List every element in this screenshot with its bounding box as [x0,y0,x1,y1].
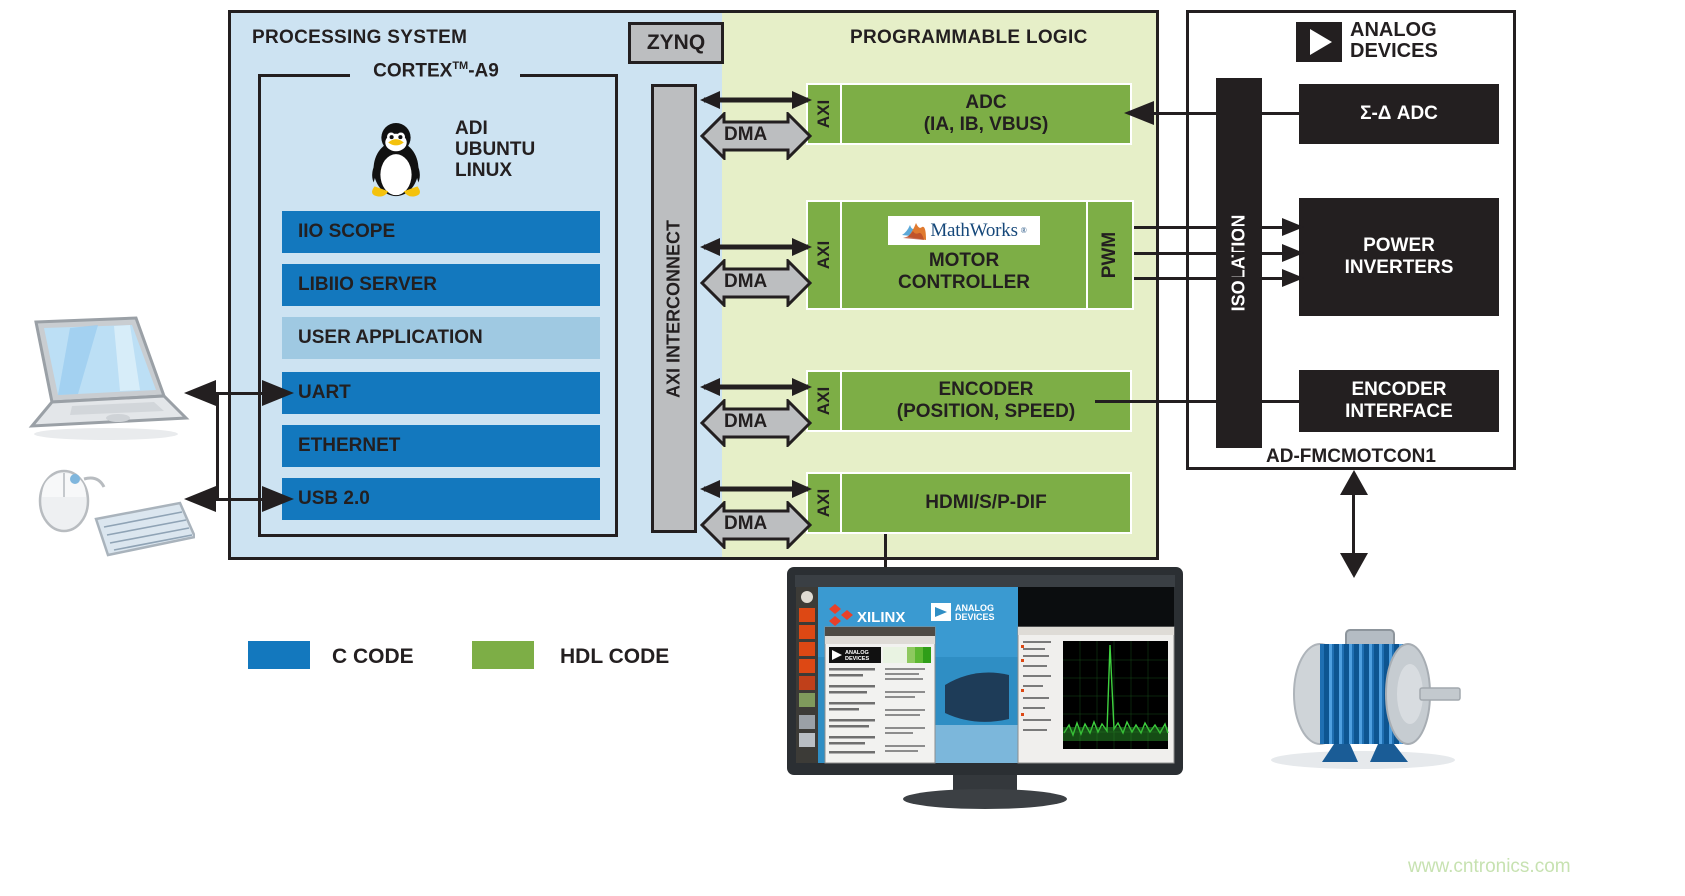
mouse-keyboard-group [30,455,195,560]
encoder-interface-line-2: INTERFACE [1345,401,1453,423]
hdl-subtitle: (IA, IB, VBUS) [924,114,1049,136]
dma-label-hdmi: DMA [724,513,767,535]
programmable-logic-title: PROGRAMMABLE LOGIC [850,27,1088,49]
sw-block-label: UART [298,382,351,404]
hdl-title: MOTOR [929,250,999,272]
adi-wordmark-line-1: ANALOG [1350,20,1438,41]
axi-tab-label: AXI [814,241,834,269]
cortex-label-text: CORTEX [373,60,452,81]
monitor-icon: XILINX ANALOG DEVICES ANALOG DEVICES [785,565,1185,815]
power-inverters-block[interactable]: POWER INVERTERS [1297,196,1501,318]
svg-text:DEVICES: DEVICES [955,612,995,622]
axi-tab-label: AXI [814,100,834,128]
os-line-3: LINUX [455,160,585,181]
board-name-label: AD-FMCMOTCON1 [1186,446,1516,468]
legend-label-c-code: C CODE [332,645,414,669]
sigma-delta-adc-label: Σ-Δ ADC [1360,103,1438,125]
wire-pwm-3 [1134,277,1264,280]
mathworks-reg-mark: ® [1021,220,1027,242]
hdl-body-encoder: ENCODER (POSITION, SPEED) [842,370,1132,432]
linux-penguin-icon [360,122,432,200]
hdl-title: HDMI/S/P-DIF [925,492,1046,514]
axi-arrow-motor [700,235,812,259]
dma-label-encoder: DMA [724,411,767,433]
hdl-block-motor-controller[interactable]: AXI MathWorks® MOTOR CONTROLLER PWM [806,200,1134,310]
axi-tab-label: AXI [814,489,834,517]
hdl-block-adc[interactable]: AXI ADC (IA, IB, VBUS) [806,83,1132,145]
hdl-subtitle: CONTROLLER [898,272,1030,294]
sw-block-user-application[interactable]: USER APPLICATION [282,317,600,359]
cortex-tm-mark: TM [452,60,468,72]
encoder-interface-line-1: ENCODER [1351,379,1446,401]
cortex-suffix: -A9 [468,60,499,81]
axi-tab-label: AXI [814,387,834,415]
electric-motor-icon [1258,612,1468,772]
keyboard-icon [96,503,195,555]
sw-block-label: IIO SCOPE [298,221,395,243]
pwm-arrowheads [1270,214,1306,294]
mathworks-membrane-icon [901,220,927,242]
analog-devices-wordmark: ANALOG DEVICES [1350,20,1438,62]
svg-text:XILINX: XILINX [857,609,905,626]
watermark-text: www.cntronics.com [1408,856,1571,878]
pwm-tab: PWM [1088,200,1134,310]
axi-arrow-encoder [700,375,812,399]
arrowhead-to-board [1339,470,1369,496]
axi-arrow-hdmi [700,477,812,501]
sigma-delta-adc-block[interactable]: Σ-Δ ADC [1297,82,1501,146]
analog-devices-triangle-icon [1296,22,1342,62]
spacer [1370,214,1371,215]
wire-isolation-to-encoder-interface [1262,400,1302,403]
dma-label-motor: DMA [724,271,767,293]
power-inverters-line-1: POWER [1363,235,1435,257]
legend-swatch-c-code [248,641,310,669]
hdl-body-adc: ADC (IA, IB, VBUS) [842,83,1132,145]
sw-block-label: LIBIIO SERVER [298,274,437,296]
wire-left-trunk [216,392,219,501]
arrowhead-to-adc [1124,100,1156,126]
wire-pwm-2 [1134,252,1264,255]
hdl-title: ADC [965,92,1006,114]
zynq-badge: ZYNQ [628,22,724,64]
wire-isolation-to-adc [1152,112,1218,115]
wire-pwm-1 [1134,226,1264,229]
hdl-body-motor: MathWorks® MOTOR CONTROLLER [842,200,1088,310]
axi-interconnect-bar: AXI INTERCONNECT [651,84,697,533]
arrowhead-to-uart [258,380,294,406]
axi-arrow-adc [700,88,812,112]
mouse-icon [40,471,104,531]
power-inverters-line-2: INVERTERS [1345,257,1454,279]
hdl-block-encoder[interactable]: AXI ENCODER (POSITION, SPEED) [806,370,1132,432]
hdl-subtitle: (POSITION, SPEED) [897,401,1075,423]
svg-text:DEVICES: DEVICES [845,656,869,662]
os-line-1: ADI [455,118,585,139]
mathworks-logo: MathWorks® [888,216,1040,245]
laptop-icon [14,310,194,440]
hdl-body-hdmi: HDMI/S/P-DIF [842,472,1132,534]
axi-interconnect-label: AXI INTERCONNECT [664,219,685,397]
wire-inverter-to-motor [1352,488,1355,558]
pwm-label: PWM [1099,232,1121,278]
sw-block-libiio-server[interactable]: LIBIIO SERVER [282,264,600,306]
adi-wordmark-line-2: DEVICES [1350,41,1438,62]
legend-swatch-hdl-code [472,641,534,669]
sw-block-usb[interactable]: USB 2.0 [282,478,600,520]
sw-block-label: USB 2.0 [298,488,370,510]
encoder-interface-block[interactable]: ENCODER INTERFACE [1297,368,1501,434]
cortex-rule-right [520,74,618,77]
isolation-label: ISOLATION [1229,215,1250,312]
mathworks-wordmark: MathWorks [930,220,1017,242]
wire-sigma-adc-to-isolation [1262,112,1299,115]
wire-encoder-to-isolation [1095,400,1264,403]
processing-system-title: PROCESSING SYSTEM [252,27,467,49]
hdl-block-hdmi[interactable]: AXI HDMI/S/P-DIF [806,472,1132,534]
zynq-label: ZYNQ [647,31,705,55]
sw-block-label: USER APPLICATION [298,327,483,349]
os-label: ADI UBUNTU LINUX [455,118,585,181]
sw-block-iio-scope[interactable]: IIO SCOPE [282,211,600,253]
sw-block-ethernet[interactable]: ETHERNET [282,425,600,467]
cortex-rule-left [258,74,350,77]
sw-block-label: ETHERNET [298,435,400,457]
dma-label-adc: DMA [724,124,767,146]
sw-block-uart[interactable]: UART [282,372,600,414]
cortex-a9-label: CORTEXTM-A9 [352,60,520,82]
legend-label-hdl-code: HDL CODE [560,645,669,669]
diagram-canvas: PROCESSING SYSTEM CORTEXTM-A9 ADI UBUNTU… [0,0,1685,896]
hdl-title: ENCODER [938,379,1033,401]
arrowhead-to-motor [1339,552,1369,578]
arrowhead-to-usb [258,486,294,512]
os-line-2: UBUNTU [455,139,585,160]
